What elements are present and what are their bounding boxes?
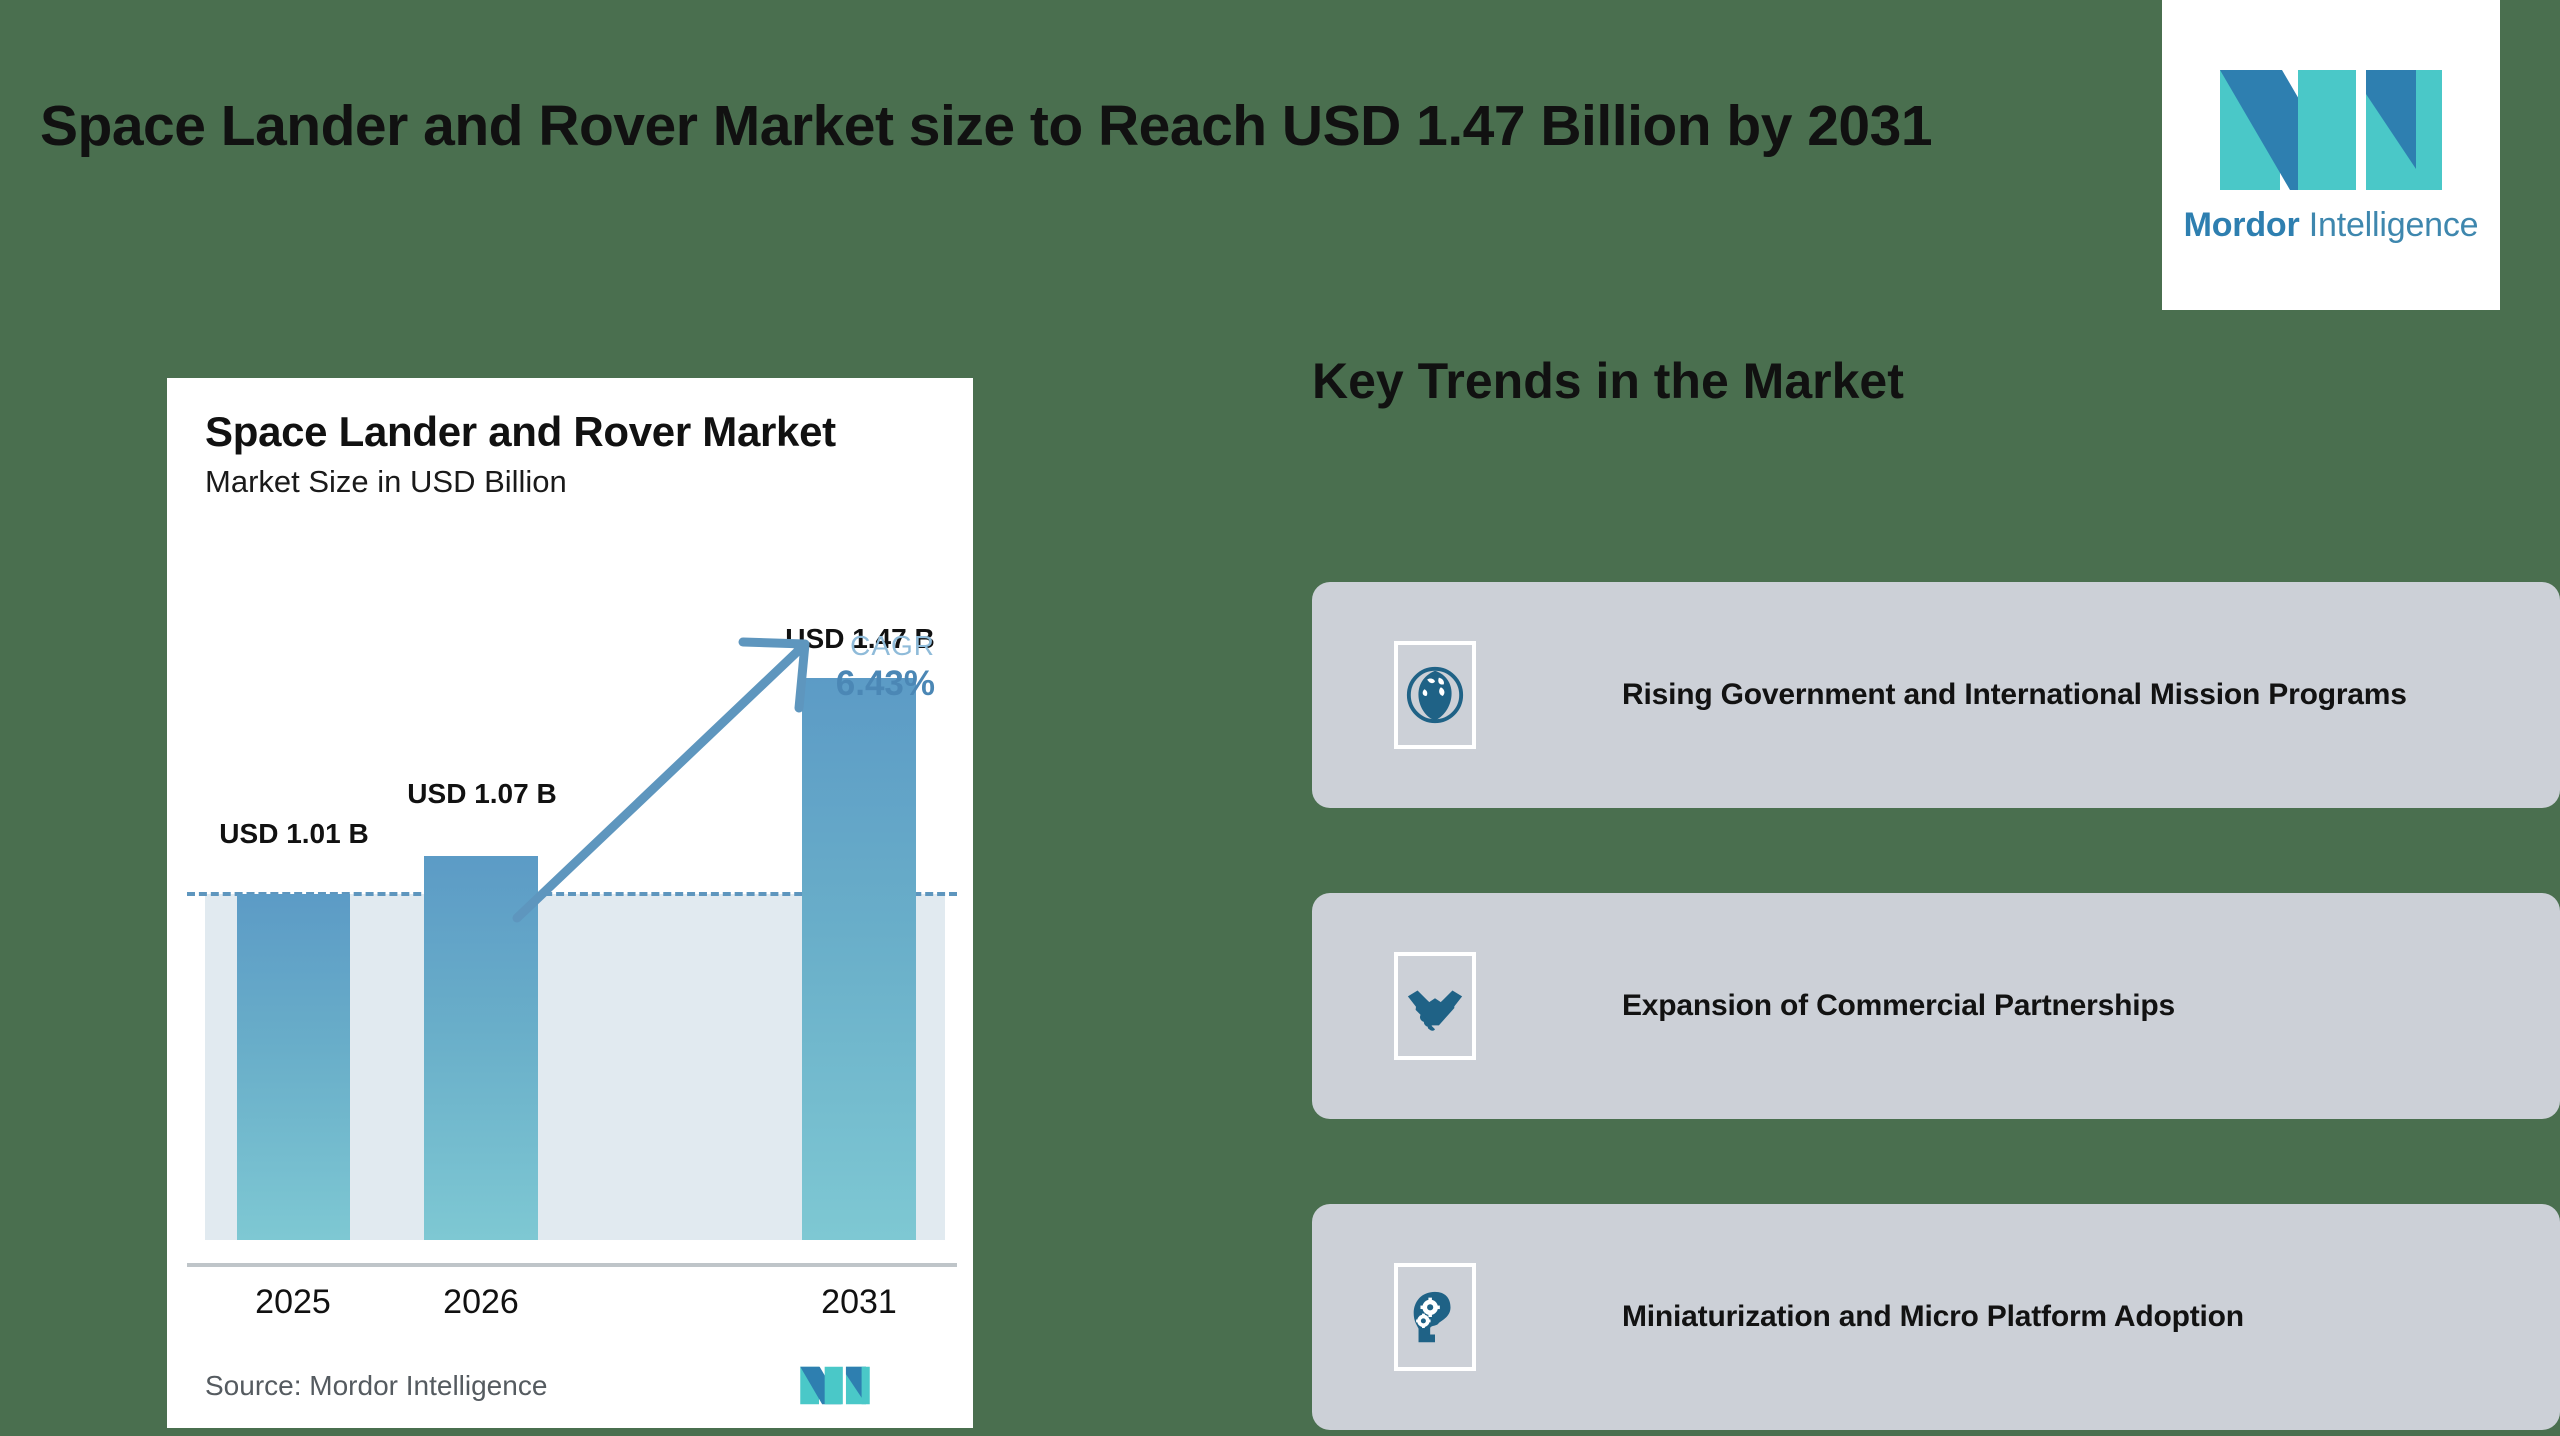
bar-2025 bbox=[237, 894, 350, 1240]
bar-value-label-2025: USD 1.01 B bbox=[169, 818, 419, 850]
brand-logo: Mordor Intelligence bbox=[2162, 0, 2500, 310]
brand-name-bold: Mordor bbox=[2184, 206, 2300, 244]
x-tick-2026: 2026 bbox=[391, 1283, 571, 1322]
page-title: Space Lander and Rover Market size to Re… bbox=[40, 92, 2110, 162]
brand-name-light: Intelligence bbox=[2300, 206, 2479, 244]
x-axis-line bbox=[187, 1263, 957, 1267]
chart-card: Space Lander and Rover Market Market Siz… bbox=[167, 378, 973, 1428]
head-gears-icon bbox=[1394, 1263, 1476, 1371]
mordor-m-mark-icon bbox=[2216, 66, 2446, 194]
trend-label-1: Rising Government and International Miss… bbox=[1622, 678, 2407, 712]
trends-heading: Key Trends in the Market bbox=[1312, 352, 1904, 410]
trend-card-1[interactable]: Rising Government and International Miss… bbox=[1312, 582, 2560, 808]
trend-label-2: Expansion of Commercial Partnerships bbox=[1622, 989, 2175, 1023]
x-tick-2025: 2025 bbox=[203, 1283, 383, 1322]
mordor-m-mark-small-icon bbox=[799, 1363, 871, 1408]
chart-source: Source: Mordor Intelligence bbox=[205, 1370, 547, 1402]
infographic-page: Space Lander and Rover Market size to Re… bbox=[0, 0, 2560, 1436]
x-tick-2031: 2031 bbox=[769, 1283, 949, 1322]
growth-arrow-icon bbox=[507, 628, 827, 928]
brand-wordmark: Mordor Intelligence bbox=[2184, 206, 2479, 245]
trend-card-3[interactable]: Miniaturization and Micro Platform Adopt… bbox=[1312, 1204, 2560, 1430]
globe-icon bbox=[1394, 641, 1476, 749]
trend-card-2[interactable]: Expansion of Commercial Partnerships bbox=[1312, 893, 2560, 1119]
handshake-icon bbox=[1394, 952, 1476, 1060]
trend-label-3: Miniaturization and Micro Platform Adopt… bbox=[1622, 1300, 2244, 1334]
bar-chart-plot: USD 1.01 B USD 1.07 B USD 1.47 B CAGR 6.… bbox=[167, 378, 973, 1428]
